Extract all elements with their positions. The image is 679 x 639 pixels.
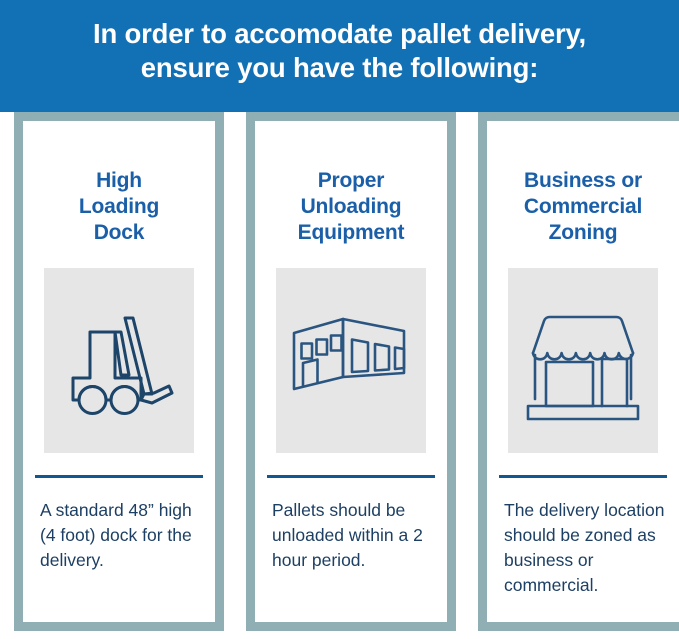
- requirement-column-business-or-commercial-zoning: Business or Commercial Zoning: [478, 112, 679, 631]
- panel-proper-unloading-equipment: Proper Unloading Equipment: [255, 121, 447, 622]
- requirements-columns: High Loading Dock: [0, 112, 679, 639]
- heading-high-loading-dock: High Loading Dock: [79, 168, 159, 246]
- heading-line-2: Unloading: [298, 194, 405, 220]
- divider-rule-1: [35, 475, 203, 478]
- storefront-icon: [524, 301, 642, 421]
- left-margin-spacer: [0, 112, 14, 639]
- header-title-line-1: In order to accomodate pallet delivery,: [93, 17, 586, 51]
- header-title-line-2: ensure you have the following:: [141, 51, 538, 85]
- panel-high-loading-dock: High Loading Dock: [23, 121, 215, 622]
- column-gap-2: [456, 112, 478, 639]
- heading-line-3: Equipment: [298, 220, 405, 246]
- divider-rule-3: [499, 475, 667, 478]
- caption-business-or-commercial-zoning: The delivery location should be zoned as…: [499, 498, 667, 598]
- header-banner: In order to accomodate pallet delivery, …: [0, 0, 679, 118]
- icon-box-storefront: [508, 268, 658, 453]
- heading-business-or-commercial-zoning: Business or Commercial Zoning: [524, 168, 642, 246]
- icon-box-forklift: [44, 268, 194, 453]
- warehouse-building-icon: [290, 301, 412, 421]
- heading-line-1: Proper: [298, 168, 405, 194]
- heading-line-1: Business or: [524, 168, 642, 194]
- heading-line-2: Commercial: [524, 194, 642, 220]
- caption-high-loading-dock: A standard 48” high (4 foot) dock for th…: [35, 498, 203, 573]
- heading-line-3: Zoning: [524, 220, 642, 246]
- heading-line-3: Dock: [79, 220, 159, 246]
- divider-rule-2: [267, 475, 435, 478]
- heading-line-1: High: [79, 168, 159, 194]
- caption-proper-unloading-equipment: Pallets should be unloaded within a 2 ho…: [267, 498, 435, 573]
- heading-proper-unloading-equipment: Proper Unloading Equipment: [298, 168, 405, 246]
- icon-box-warehouse: [276, 268, 426, 453]
- heading-line-2: Loading: [79, 194, 159, 220]
- column-gap-1: [224, 112, 246, 639]
- panel-business-or-commercial-zoning: Business or Commercial Zoning: [487, 121, 679, 622]
- pallet-delivery-infographic: In order to accomodate pallet delivery, …: [0, 0, 679, 639]
- requirement-column-high-loading-dock: High Loading Dock: [14, 112, 224, 631]
- forklift-icon: [59, 296, 179, 426]
- requirement-column-proper-unloading-equipment: Proper Unloading Equipment: [246, 112, 456, 631]
